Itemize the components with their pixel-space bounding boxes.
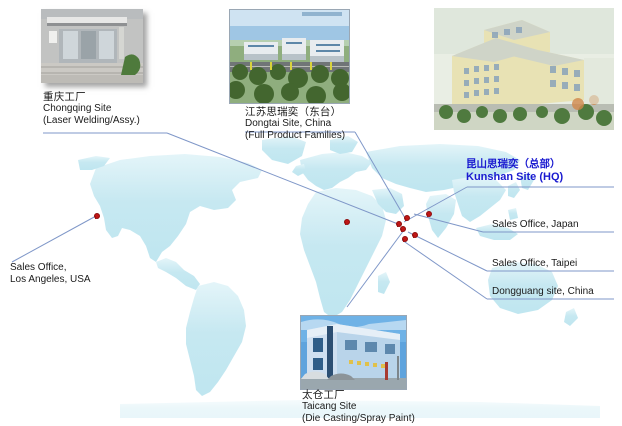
kunshan-hq-art	[434, 8, 614, 130]
caption-chongqing-en: Chongqing Site	[43, 103, 140, 115]
leader-line-dongguang	[402, 240, 487, 299]
label-los-angeles: Sales Office, Los Angeles, USA	[10, 262, 91, 287]
label-los-angeles-line1: Sales Office,	[10, 262, 91, 274]
map-pin-dongtai-sea[interactable]	[343, 219, 349, 225]
leader-line-taicang	[347, 230, 404, 307]
label-dongguang-site: Dongguang site, China	[492, 286, 594, 298]
caption-chongqing-cn: 重庆工厂	[43, 91, 140, 103]
global-sites-map: 重庆工厂 Chongqing Site (Laser Welding/Assy.…	[0, 0, 622, 418]
label-sales-office-japan: Sales Office, Japan	[492, 219, 579, 231]
map-pin-los-angeles[interactable]	[93, 213, 99, 219]
caption-kunshan-cn: 昆山思瑞奕（总部）	[466, 158, 563, 171]
caption-taicang-en: Taicang Site	[302, 401, 415, 413]
leader-line-dongtai	[355, 132, 405, 218]
leader-line-los-angeles	[12, 216, 96, 262]
map-pin-kunshan[interactable]	[399, 226, 405, 232]
label-sales-office-taipei: Sales Office, Taipei	[492, 258, 577, 270]
caption-chongqing-detail: (Laser Welding/Assy.)	[43, 115, 140, 127]
photo-dongtai[interactable]	[229, 9, 350, 104]
taicang-building-art	[301, 316, 406, 389]
caption-dongtai-detail: (Full Product Families)	[245, 130, 345, 142]
leader-line-taipei	[408, 232, 487, 271]
caption-dongtai-en: Dongtai Site, China	[245, 118, 345, 130]
photo-taicang[interactable]	[300, 315, 407, 390]
label-japan-text: Sales Office, Japan	[492, 219, 579, 231]
map-pin-taipei[interactable]	[411, 232, 417, 238]
caption-dongtai-cn: 江苏思瑞奕（东台）	[245, 106, 345, 118]
caption-dongtai: 江苏思瑞奕（东台） Dongtai Site, China (Full Prod…	[245, 106, 345, 143]
caption-taicang-detail: (Die Casting/Spray Paint)	[302, 413, 415, 425]
leader-line-kunshan	[404, 187, 467, 222]
caption-kunshan-en: Kunshan Site (HQ)	[466, 171, 563, 184]
map-pin-dongtai[interactable]	[403, 215, 409, 221]
caption-kunshan-hq: 昆山思瑞奕（总部） Kunshan Site (HQ)	[466, 158, 563, 184]
chongqing-building-art	[41, 9, 143, 83]
label-dongguang-text: Dongguang site, China	[492, 286, 594, 298]
label-los-angeles-line2: Los Angeles, USA	[10, 274, 91, 286]
photo-kunshan-hq[interactable]	[434, 8, 614, 130]
map-pin-japan[interactable]	[425, 211, 431, 217]
caption-chongqing: 重庆工厂 Chongqing Site (Laser Welding/Assy.…	[43, 91, 140, 128]
map-pin-taicang[interactable]	[401, 236, 407, 242]
caption-taicang-cn: 太仓工厂	[302, 389, 415, 401]
caption-taicang: 太仓工厂 Taicang Site (Die Casting/Spray Pai…	[302, 389, 415, 426]
photo-chongqing[interactable]	[41, 9, 143, 83]
label-taipei-text: Sales Office, Taipei	[492, 258, 577, 270]
dongtai-campus-art	[230, 10, 349, 103]
